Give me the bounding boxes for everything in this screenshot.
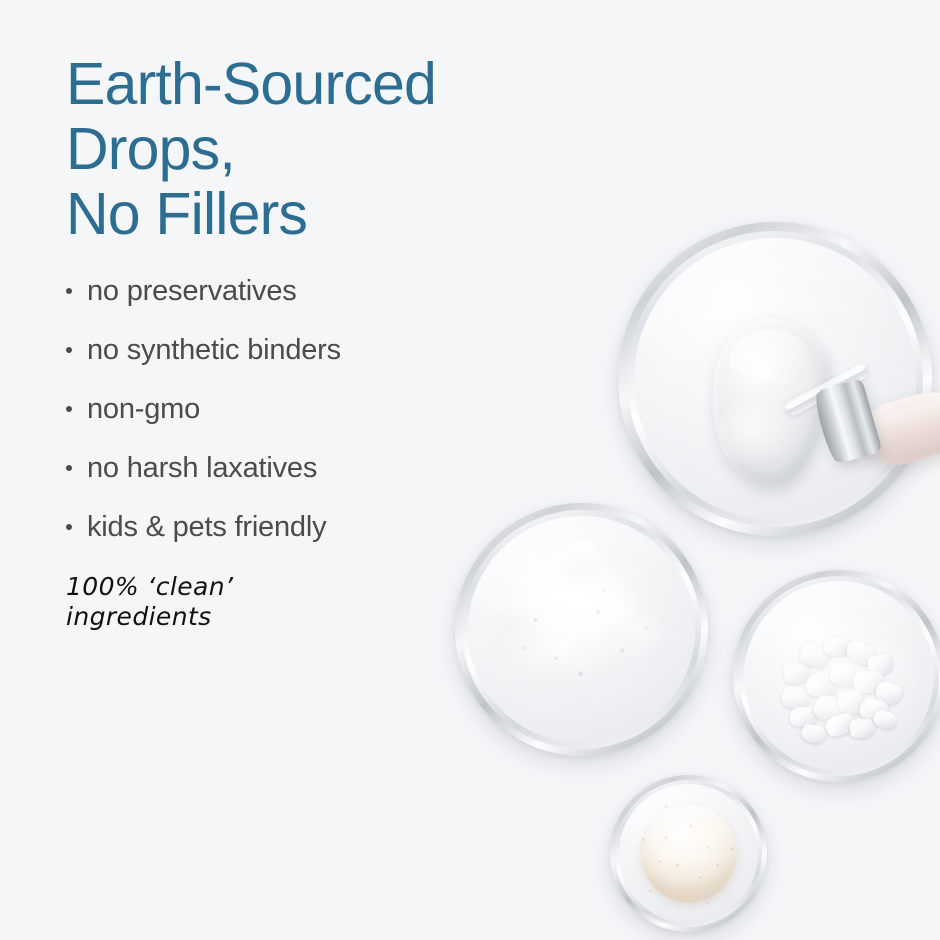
page-title: Earth-Sourced Drops, No Fillers xyxy=(66,52,586,247)
list-item-label: non-gmo xyxy=(87,393,200,425)
bullet-icon xyxy=(66,288,72,294)
dish-well xyxy=(744,581,934,771)
list-item: no harsh laxatives xyxy=(66,454,586,483)
list-item-label: kids & pets friendly xyxy=(87,511,326,543)
feature-list: no preservatives no synthetic binders no… xyxy=(66,277,586,542)
list-item: kids & pets friendly xyxy=(66,513,586,542)
bullet-icon xyxy=(66,406,72,412)
handwritten-note: 100% ‘clean’ ingredients xyxy=(66,572,586,633)
copy-block: Earth-Sourced Drops, No Fillers no prese… xyxy=(66,52,586,633)
white-flake-pile xyxy=(780,633,908,739)
list-item: no preservatives xyxy=(66,277,586,306)
flake-fragment xyxy=(801,723,828,745)
petri-dish-white-flakes xyxy=(733,570,940,782)
flake-fragment xyxy=(872,708,898,730)
list-item-label: no synthetic binders xyxy=(87,334,341,366)
bullet-icon xyxy=(66,347,72,353)
list-item-label: no preservatives xyxy=(87,275,297,307)
promo-graphic: Earth-Sourced Drops, No Fillers no prese… xyxy=(0,0,940,940)
cream-granule-mound xyxy=(641,804,737,903)
petri-dish-cream-granules xyxy=(610,775,767,932)
list-item: no synthetic binders xyxy=(66,336,586,365)
bullet-icon xyxy=(66,465,72,471)
dish-well xyxy=(634,238,916,520)
petri-dish-gel-with-dropper xyxy=(618,222,932,536)
dish-well xyxy=(619,784,758,923)
flake-fragment xyxy=(849,718,876,740)
bullet-icon xyxy=(66,524,72,530)
list-item: non-gmo xyxy=(66,395,586,424)
list-item-label: no harsh laxatives xyxy=(87,452,317,484)
